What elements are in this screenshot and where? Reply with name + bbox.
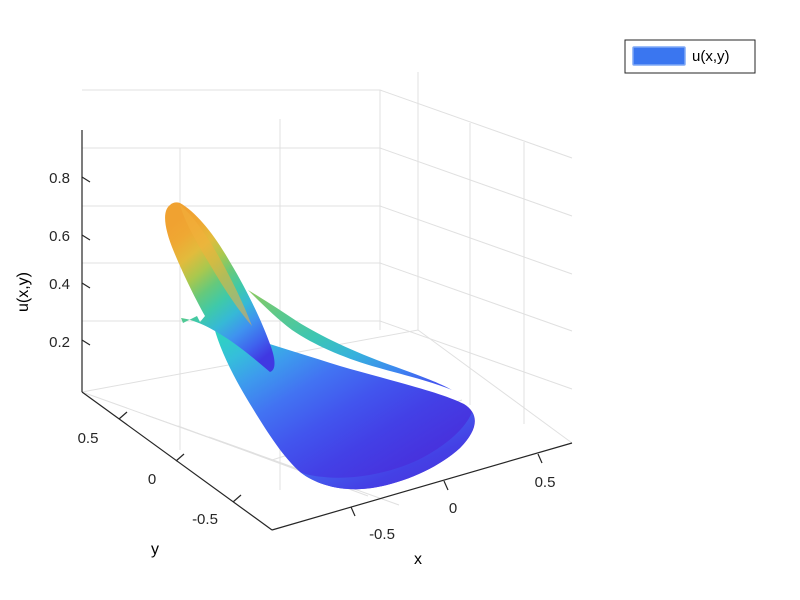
- x-tick-label: 0: [449, 500, 457, 517]
- legend-swatch-u-of-x-y[interactable]: [633, 47, 685, 65]
- y-tick-label: 0: [148, 471, 156, 488]
- x-tick-label: 0.5: [535, 474, 556, 491]
- y-tick-label: 0.5: [78, 430, 99, 447]
- surface-u-of-x-y: [165, 202, 475, 489]
- surface-crest: [165, 202, 274, 372]
- y-axis-line: [82, 392, 272, 530]
- x-tick-label: -0.5: [369, 526, 395, 543]
- y-axis-label: y: [151, 541, 159, 558]
- surface-plot-svg: 0.8 0.6 0.4 0.2 0.5 0 -0.5 -0.5 0 0.5 u(…: [0, 0, 800, 600]
- z-tick-label: 0.8: [49, 170, 70, 187]
- legend-label-u-of-x-y: u(x,y): [692, 48, 730, 65]
- figure-canvas: 0.8 0.6 0.4 0.2 0.5 0 -0.5 -0.5 0 0.5 u(…: [0, 0, 800, 600]
- z-tick-label: 0.4: [49, 276, 70, 293]
- x-axis-label: x: [414, 551, 422, 568]
- z-tick-labels: 0.8 0.6 0.4 0.2: [49, 170, 70, 351]
- z-tick-label: 0.6: [49, 228, 70, 245]
- y-tick-labels: 0.5 0 -0.5: [78, 430, 218, 528]
- z-tick-label: 0.2: [49, 334, 70, 351]
- x-tick-labels: -0.5 0 0.5: [369, 474, 555, 543]
- z-axis-label: u(x,y): [15, 272, 32, 312]
- legend[interactable]: u(x,y): [625, 40, 755, 73]
- y-tick-label: -0.5: [192, 511, 218, 528]
